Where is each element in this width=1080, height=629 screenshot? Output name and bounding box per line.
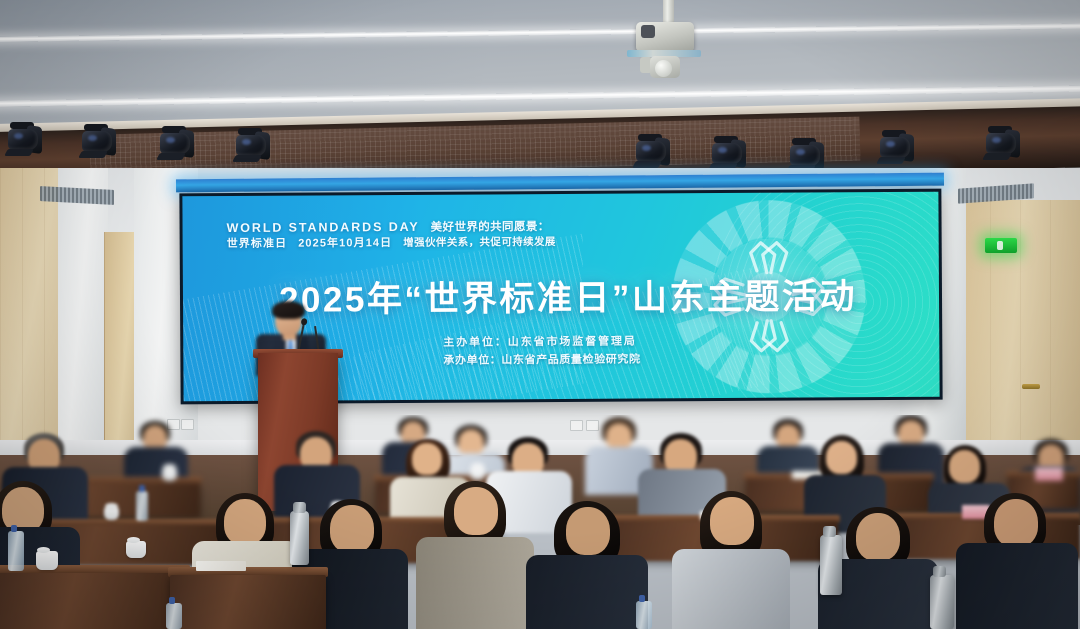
tagline-line-1: 美好世界的共同愿景： bbox=[431, 220, 550, 236]
stage-light bbox=[880, 134, 914, 160]
stage-light bbox=[8, 126, 42, 152]
stage-light bbox=[160, 130, 194, 156]
stage-light bbox=[236, 132, 270, 158]
stage-light bbox=[986, 130, 1020, 156]
teacup bbox=[126, 541, 146, 558]
organizer-line: 主办单位：山东省市场监督管理局 bbox=[443, 334, 640, 353]
screen-header: WORLD STANDARDS DAY 美好世界的共同愿景： 世界标准日 202… bbox=[227, 218, 556, 252]
co-organizer-line: 承办单位：山东省产品质量检验研究院 bbox=[443, 351, 640, 370]
exit-sign bbox=[985, 238, 1017, 253]
water-bottle bbox=[636, 601, 652, 629]
water-bottle bbox=[136, 491, 148, 521]
teacup bbox=[104, 507, 119, 520]
teacup bbox=[470, 467, 485, 480]
projector-detail bbox=[641, 25, 655, 38]
thermos-flask bbox=[290, 511, 309, 565]
teacup bbox=[162, 468, 177, 481]
projector-lens bbox=[655, 60, 672, 77]
world-standards-day-cn: 世界标准日 bbox=[227, 237, 288, 252]
stage-light bbox=[790, 142, 824, 168]
name-placard bbox=[1035, 467, 1063, 481]
teacup bbox=[36, 551, 58, 570]
conference-photo: WORLD STANDARDS DAY 美好世界的共同愿景： 世界标准日 202… bbox=[0, 0, 1080, 629]
speaker-hair bbox=[272, 301, 305, 319]
water-bottle bbox=[166, 603, 182, 629]
stage-light bbox=[712, 140, 746, 166]
audience-area bbox=[0, 415, 1080, 629]
stage-light bbox=[636, 138, 670, 164]
event-date: 2025年10月14日 bbox=[298, 236, 392, 251]
organizer-block: 主办单位：山东省市场监督管理局 承办单位：山东省产品质量检验研究院 bbox=[443, 334, 640, 371]
event-main-title: 2025年“世界标准日”山东主题活动 bbox=[279, 268, 857, 323]
thermos-flask bbox=[820, 535, 842, 595]
tagline-line-2: 增强伙伴关系，共促可持续发展 bbox=[403, 235, 556, 250]
world-standards-day-en: WORLD STANDARDS DAY bbox=[227, 219, 420, 237]
water-bottle bbox=[8, 531, 24, 571]
thermos-flask bbox=[930, 575, 954, 629]
door-handle bbox=[1022, 384, 1040, 389]
stage-light bbox=[82, 128, 116, 154]
